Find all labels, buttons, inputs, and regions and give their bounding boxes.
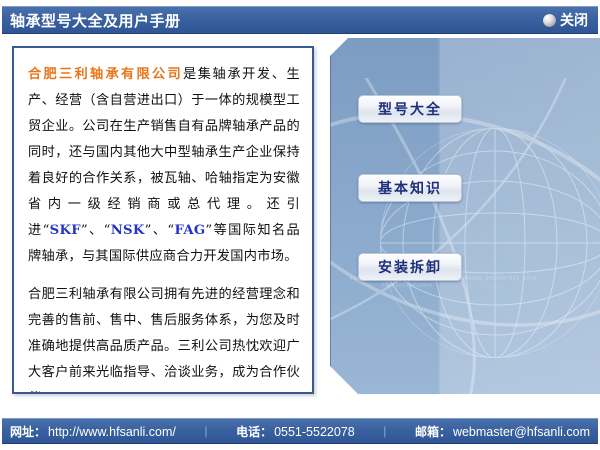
brand-nsk: NSK	[111, 223, 145, 238]
main-stage: 4103480210032044904300004 9604178060000 …	[0, 36, 600, 412]
footer-website-value: http://www.hfsanli.com/	[48, 425, 176, 439]
footer-phone-value: 0551-5522078	[274, 425, 355, 439]
application-window: 轴承型号大全及用户手册 关闭	[0, 0, 600, 450]
footer-divider: |	[204, 424, 207, 438]
footer-phone-label: 电话：	[236, 423, 272, 440]
panel-edge-highlight	[330, 38, 600, 394]
footer-email-label: 邮箱：	[415, 423, 451, 440]
nav-button-install-removal[interactable]: 安装拆卸	[358, 253, 462, 281]
brand-fag: FAG	[174, 223, 205, 238]
brand-separator-2: ”、“	[145, 223, 175, 238]
nav-button-model-catalog[interactable]: 型号大全	[358, 95, 462, 123]
intro-paragraph-2: 合肥三利轴承有限公司拥有先进的经营理念和完善的售前、售中、售后服务体系，为您及时…	[28, 282, 300, 394]
intro-text-a: 是集轴承开发、生产、经营（含自营进出口）于一体的规模型工贸企业。公司在生产销售自…	[28, 67, 300, 238]
page-title: 轴承型号大全及用户手册	[10, 10, 181, 31]
brand-separator-1: ”、“	[81, 223, 111, 238]
sphere-orb-icon	[543, 14, 556, 27]
footer-divider: |	[383, 424, 386, 438]
footer-email[interactable]: 邮箱： webmaster@hfsanli.com	[415, 423, 590, 440]
nav-button-label: 安装拆卸	[378, 257, 442, 277]
footer-website[interactable]: 网址： http://www.hfsanli.com/	[10, 423, 176, 440]
close-button[interactable]: 关闭	[543, 10, 588, 30]
close-button-label: 关闭	[560, 10, 588, 30]
globe-wireframe-icon	[330, 78, 600, 394]
footer-bar: 网址： http://www.hfsanli.com/ | 电话： 0551-5…	[2, 418, 598, 444]
brand-skf: SKF	[50, 223, 81, 238]
footer-website-label: 网址：	[10, 423, 46, 440]
company-intro-card: 合肥三利轴承有限公司是集轴承开发、生产、经营（含自营进出口）于一体的规模型工贸企…	[12, 46, 314, 394]
footer-phone: 电话： 0551-5522078	[236, 423, 355, 440]
intro-paragraph-1: 合肥三利轴承有限公司是集轴承开发、生产、经营（含自营进出口）于一体的规模型工贸企…	[28, 62, 300, 270]
nav-button-basic-knowledge[interactable]: 基本知识	[358, 174, 462, 202]
nav-button-label: 基本知识	[378, 178, 442, 198]
nav-button-label: 型号大全	[378, 99, 442, 119]
title-bar: 轴承型号大全及用户手册 关闭	[2, 6, 598, 34]
footer-email-value: webmaster@hfsanli.com	[453, 425, 590, 439]
nav-panel: 4103480210032044904300004 9604178060000 …	[330, 38, 600, 394]
company-name: 合肥三利轴承有限公司	[28, 67, 183, 82]
